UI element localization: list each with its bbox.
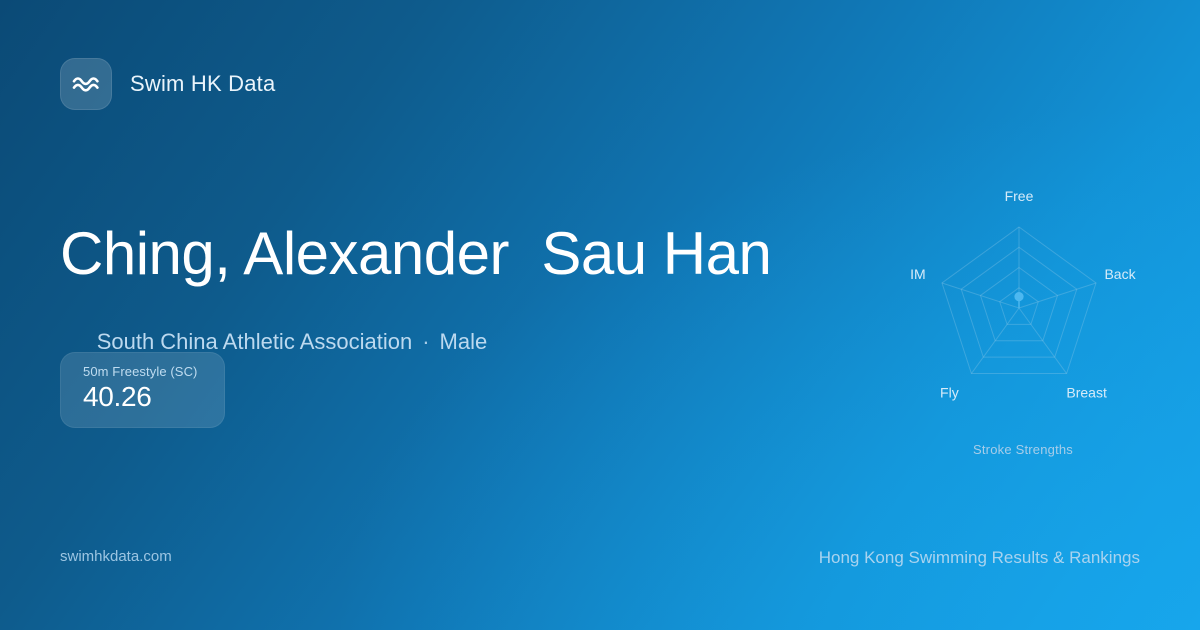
og-card: Swim HK Data Ching, Alexander Sau Han So… [0, 0, 1200, 630]
radar-caption: Stroke Strengths [878, 442, 1168, 457]
meta-separator: · [412, 329, 439, 354]
radar-axis-label-im: IM [910, 266, 926, 282]
radar-axis-label-breast: Breast [1066, 385, 1107, 401]
waves-glyph [71, 73, 101, 95]
radar-series [1014, 292, 1023, 308]
club-name: South China Athletic Association [97, 329, 413, 354]
stat-card-label: 50m Freestyle (SC) [83, 364, 224, 379]
radar-axis-labels: FreeBackBreastFlyIM [910, 188, 1136, 401]
page-title: Ching, Alexander Sau Han [60, 222, 771, 285]
radar-axis-label-fly: Fly [940, 385, 959, 401]
radar-svg: FreeBackBreastFlyIM [878, 172, 1168, 442]
stroke-strengths-radar: FreeBackBreastFlyIM Stroke Strengths [878, 172, 1168, 472]
stat-card: 50m Freestyle (SC) 40.26 [60, 352, 225, 428]
waves-icon [60, 58, 112, 110]
brand-lockup: Swim HK Data [60, 58, 275, 110]
footer-site: swimhkdata.com [60, 548, 172, 565]
radar-axis-label-free: Free [1005, 188, 1034, 204]
brand-name: Swim HK Data [130, 71, 275, 97]
radar-axis-label-back: Back [1104, 266, 1136, 282]
gender-label: Male [440, 329, 488, 354]
footer-tagline: Hong Kong Swimming Results & Rankings [819, 548, 1140, 568]
stat-card-value: 40.26 [83, 381, 224, 413]
